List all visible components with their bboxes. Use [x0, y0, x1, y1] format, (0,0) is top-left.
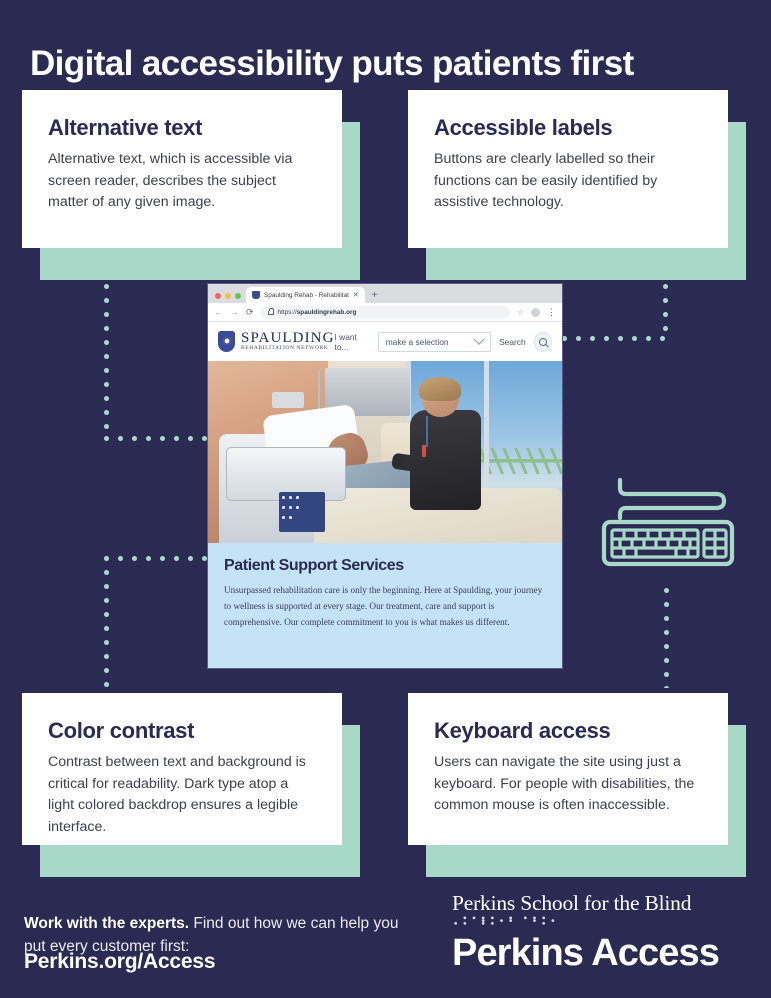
new-tab-icon[interactable]: + — [372, 291, 378, 303]
card-title: Keyboard access — [434, 719, 702, 743]
search-icon — [539, 338, 547, 346]
search-button[interactable] — [534, 332, 552, 352]
chevron-down-icon — [473, 333, 484, 344]
browser-url-bar: ← → ⟳ https://spauldingrehab.org ☆ ⋮ — [208, 303, 562, 322]
card-alternative-text: Alternative text Alternative text, which… — [22, 90, 342, 248]
perkins-logo: Perkins School for the Blind Perkins Acc… — [452, 893, 752, 973]
hero-bed-button — [296, 496, 299, 499]
perkins-school-text: Perkins School for the Blind — [452, 893, 752, 915]
braille-dots-icon — [452, 916, 727, 927]
site-header-controls: I want to... make a selection Search — [335, 332, 552, 352]
bookmark-icon[interactable]: ☆ — [517, 308, 524, 317]
card-accessible-labels: Accessible labels Buttons are clearly la… — [408, 90, 728, 248]
panel-title: Patient Support Services — [224, 557, 546, 575]
logo-wordmark: SPAULDING REHABILITATION NETWORK — [241, 331, 335, 353]
card-title: Alternative text — [48, 116, 316, 140]
close-window-icon[interactable] — [215, 293, 221, 299]
connector-contrast-horizontal — [104, 556, 212, 561]
browser-menu-icon[interactable]: ⋮ — [547, 309, 556, 315]
i-want-to-label: I want to... — [335, 332, 370, 352]
window-controls — [213, 293, 246, 303]
footer-cta-bold: Work with the experts. — [24, 915, 189, 932]
dropdown-value: make a selection — [386, 337, 449, 347]
card-surface: Accessible labels Buttons are clearly la… — [408, 90, 728, 248]
url-text: https://spauldingrehab.org — [278, 309, 357, 316]
logo-sub-text: REHABILITATION NETWORK — [241, 346, 335, 352]
perkins-access-text: Perkins Access — [452, 934, 752, 974]
hero-bed-button — [296, 506, 299, 509]
card-body: Alternative text, which is accessible vi… — [48, 149, 316, 214]
hero-bed-button — [282, 516, 285, 519]
connector-alt-text-vertical — [104, 256, 109, 438]
browser-window-mockup: Spaulding Rehab - Rehabilitat ✕ + ← → ⟳ … — [207, 283, 563, 669]
browser-tab-bar: Spaulding Rehab - Rehabilitat ✕ + — [208, 284, 562, 303]
reload-icon[interactable]: ⟳ — [246, 308, 254, 317]
minimize-window-icon[interactable] — [225, 293, 231, 299]
card-body: Users can navigate the site using just a… — [434, 752, 702, 817]
footer-url[interactable]: Perkins.org/Access — [24, 950, 215, 974]
make-a-selection-dropdown[interactable]: make a selection — [378, 332, 491, 352]
profile-avatar[interactable] — [531, 308, 540, 317]
card-title: Color contrast — [48, 719, 316, 743]
hero-bed-button — [289, 516, 292, 519]
tab-title: Spaulding Rehab - Rehabilitat — [264, 292, 349, 299]
hero-clinician-badge — [422, 445, 426, 457]
url-input[interactable]: https://spauldingrehab.org — [261, 306, 510, 319]
card-color-contrast: Color contrast Contrast between text and… — [22, 693, 342, 845]
hero-wall-fixture — [272, 392, 304, 408]
hero-bed-button — [282, 496, 285, 499]
keyboard-icon — [598, 472, 738, 568]
card-body: Buttons are clearly labelled so their fu… — [434, 149, 702, 214]
spaulding-logo[interactable]: SPAULDING REHABILITATION NETWORK — [218, 331, 335, 353]
hero-bed-button — [289, 506, 292, 509]
close-tab-icon[interactable]: ✕ — [353, 292, 359, 299]
page-title: Digital accessibility puts patients firs… — [30, 45, 750, 84]
card-keyboard-access: Keyboard access Users can navigate the s… — [408, 693, 728, 845]
hero-bed-button — [289, 496, 292, 499]
search-label: Search — [499, 337, 526, 347]
card-title: Accessible labels — [434, 116, 702, 140]
browser-tab[interactable]: Spaulding Rehab - Rehabilitat ✕ — [246, 287, 365, 303]
connector-keyboard-vertical — [664, 588, 669, 688]
hero-clinician-body — [410, 410, 481, 510]
back-icon[interactable]: ← — [214, 308, 223, 317]
panel-body: Unsurpassed rehabilitation care is only … — [224, 583, 546, 630]
connector-labels-horizontal — [562, 336, 666, 341]
hero-bed-control-panel — [279, 492, 325, 532]
infographic-poster: Digital accessibility puts patients firs… — [0, 0, 771, 998]
forward-icon[interactable]: → — [230, 308, 239, 317]
site-header: SPAULDING REHABILITATION NETWORK I want … — [208, 322, 562, 361]
card-surface: Color contrast Contrast between text and… — [22, 693, 342, 845]
connector-alt-text-horizontal — [104, 436, 212, 441]
favicon-icon — [252, 291, 260, 299]
logo-main-text: SPAULDING — [241, 331, 335, 347]
card-surface: Alternative text Alternative text, which… — [22, 90, 342, 248]
lock-icon — [268, 311, 274, 315]
maximize-window-icon[interactable] — [235, 293, 241, 299]
hero-clinician-hair — [419, 377, 461, 401]
card-body: Contrast between text and background is … — [48, 752, 316, 838]
connector-contrast-vertical — [104, 556, 109, 688]
hero-clinician-lanyard — [426, 416, 428, 447]
hero-bed-button — [282, 506, 285, 509]
patient-support-panel: Patient Support Services Unsurpassed reh… — [208, 543, 562, 669]
shield-icon — [218, 331, 235, 352]
card-surface: Keyboard access Users can navigate the s… — [408, 693, 728, 845]
hero-photo — [208, 361, 562, 543]
